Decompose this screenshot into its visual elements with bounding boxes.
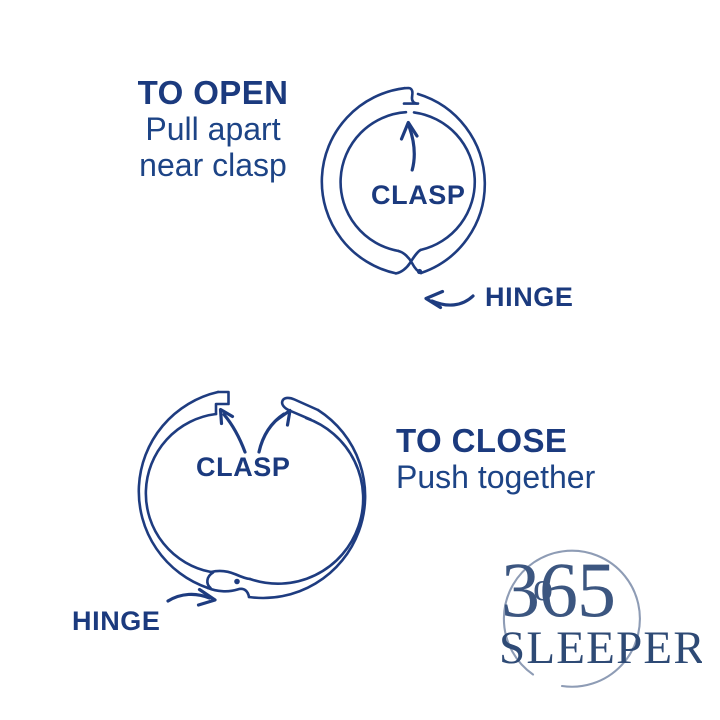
- hinge-barrel-open-outline: [207, 573, 213, 589]
- open-instruction-text: TO OPEN Pull apart near clasp: [108, 76, 318, 184]
- clasp-label-open-ring: CLASP: [196, 452, 291, 483]
- clasp-label-closed-ring: CLASP: [371, 180, 466, 211]
- close-heading: TO CLOSE: [396, 424, 656, 459]
- instruction-graphic: TO OPEN Pull apart near clasp TO CLOSE P…: [0, 0, 720, 720]
- clasp-arrow-right: [259, 414, 284, 452]
- open-subline-2: near clasp: [108, 147, 318, 183]
- logo-degree-mark: o: [533, 564, 553, 609]
- hinge-pin-open: [234, 579, 240, 585]
- open-heading: TO OPEN: [108, 76, 318, 111]
- brand-logo: 365 o SLEEPERS: [487, 538, 702, 703]
- logo-number: 365: [501, 546, 615, 633]
- hinge-barrel-open-lower: [208, 588, 249, 597]
- logo-wordmark: SLEEPERS: [499, 622, 702, 674]
- close-instruction-text: TO CLOSE Push together: [396, 424, 656, 495]
- clasp-arrow-left: [224, 415, 245, 453]
- open-ring-right-inner: [250, 418, 363, 584]
- open-subline-1: Pull apart: [108, 111, 318, 147]
- open-ring-right-outer: [249, 410, 365, 598]
- hinge-barrel-open-upper: [211, 571, 250, 579]
- hinge-arrow-open: [168, 594, 210, 601]
- hinge-label-open-ring: HINGE: [72, 606, 161, 637]
- close-subline-1: Push together: [396, 459, 656, 495]
- hinge-label-closed-ring: HINGE: [485, 282, 574, 313]
